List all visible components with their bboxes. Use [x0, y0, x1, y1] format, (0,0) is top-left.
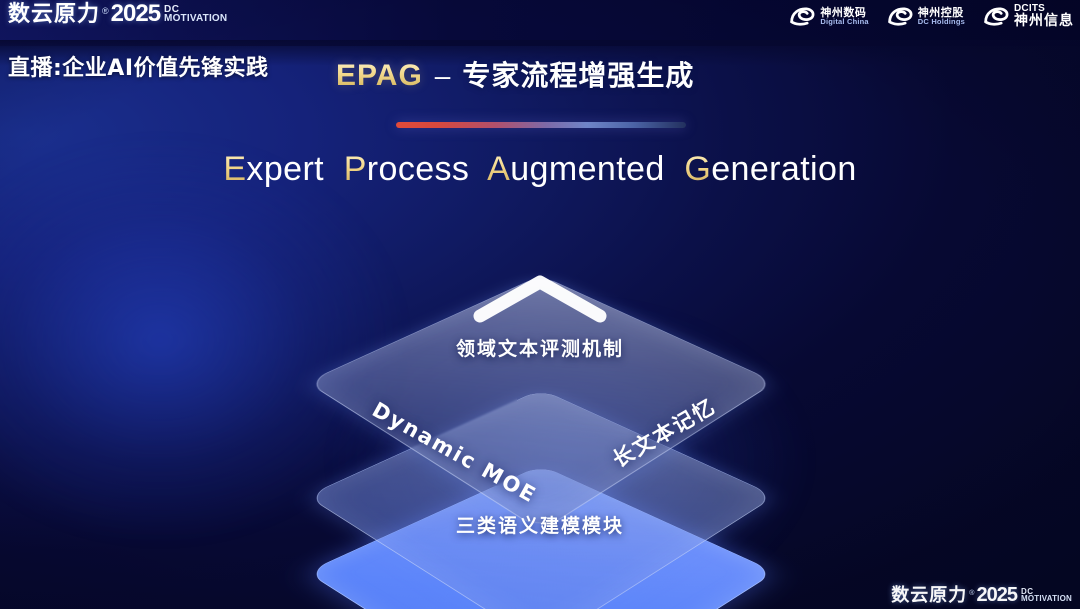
swirl-logo-icon [983, 5, 1009, 27]
registered-mark-icon: ® [102, 7, 109, 16]
diagram-caption-bottom: 三类语义建模模块 [0, 511, 1080, 538]
diagram-plate-top-wrap [375, 216, 705, 546]
event-logo-motivation: MOTIVATION [164, 14, 227, 24]
headline-rest-expert: xpert [246, 150, 324, 188]
diagram-caption-top: 领域文本评测机制 [0, 334, 1080, 361]
partner-logo-text: 神州数码 Digital China [820, 7, 868, 26]
headline-rest-augmented: ugmented [510, 150, 664, 188]
watermark-logo-chinese: 数云原力 [891, 587, 967, 605]
partner-logo-text: 神州控股 DC Holdings [918, 7, 965, 26]
title-chinese: 专家流程增强生成 [462, 54, 694, 94]
event-logo: 数云原力 ® 2025 DC MOTIVATION [8, 2, 227, 26]
slide-title: EPAG – 专家流程增强生成 [336, 54, 694, 94]
live-subtitle: 直播:企业AI价值先锋实践 [8, 50, 269, 82]
swirl-logo-icon [887, 5, 913, 27]
headline-word-expert: Expert [223, 150, 324, 188]
headline-cap-a: A [487, 150, 510, 188]
headline-cap-e: E [223, 150, 246, 188]
swirl-logo-icon [789, 5, 815, 27]
title-acronym: EPAG [336, 59, 423, 93]
event-logo-chinese: 数云原力 [8, 4, 100, 26]
partner-logo-dcits: DCITS 神州信息 [983, 4, 1074, 28]
headline-rest-process: rocess [367, 150, 470, 188]
event-logo-dc-motivation: DC MOTIVATION [164, 5, 227, 24]
headline-word-process: Process [344, 150, 470, 188]
slide-canvas: 数云原力 ® 2025 DC MOTIVATION 直播:企业AI价值先锋实践 … [0, 0, 1080, 609]
watermark-registered-mark-icon: ® [969, 590, 974, 597]
partner-logo-bar: 神州数码 Digital China 神州控股 DC Holdings [789, 4, 1074, 28]
headline-word-generation: Generation [684, 150, 856, 188]
headline-word-augmented: Augmented [487, 150, 665, 188]
watermark-motivation: MOTIVATION [1021, 595, 1072, 603]
partner-name-en: Digital China [820, 18, 868, 26]
watermark-dc-motivation: DC MOTIVATION [1021, 588, 1072, 603]
diagram-layer-top[interactable] [260, 216, 820, 446]
title-divider [396, 122, 686, 128]
title-dash: – [435, 60, 451, 92]
headline-cap-g: G [684, 150, 711, 188]
event-logo-year: 2025 [111, 2, 160, 26]
acronym-expansion: Expert Process Augmented Generation [0, 150, 1080, 189]
partner-logo-digital-china: 神州数码 Digital China [789, 5, 868, 27]
watermark-logo-year: 2025 [976, 585, 1017, 605]
partner-logo-dc-holdings: 神州控股 DC Holdings [887, 5, 965, 27]
headline-cap-p: P [344, 150, 367, 188]
partner-logo-text: DCITS 神州信息 [1014, 4, 1074, 28]
partner-name-en: DC Holdings [918, 18, 965, 26]
footer-watermark-logo: 数云原力 ® 2025 DC MOTIVATION [891, 585, 1072, 605]
partner-name-cn: 神州信息 [1014, 14, 1074, 28]
headline-rest-generation: eneration [711, 150, 856, 188]
